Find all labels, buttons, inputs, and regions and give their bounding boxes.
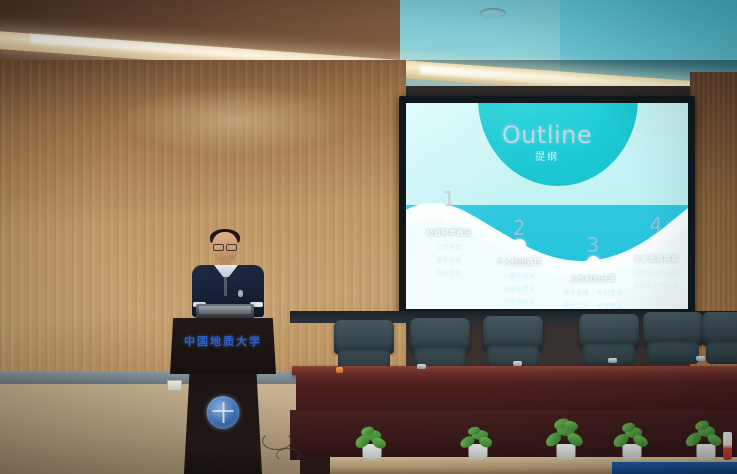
step-subitem: 选择与责任 (482, 284, 556, 293)
microphone-base[interactable] (417, 364, 426, 369)
slide-step-1: 1 经管院学概况 立足经管 服务经管 优质经管 (412, 189, 486, 277)
slide-step-4: 4 未来发展展望 构建学科新格局 培养高水平人才 (624, 215, 688, 290)
potted-plant (457, 414, 499, 460)
step-subitem: 立足经管 (412, 242, 486, 251)
water-bottle (723, 432, 732, 460)
speaker (192, 232, 264, 314)
step-number: 1 (412, 189, 486, 209)
plant-pot (697, 444, 716, 460)
panel-chair[interactable] (643, 312, 703, 372)
step-heading: 个人经历感悟 (482, 257, 556, 267)
step-subitem: 兴趣与成长 (482, 271, 556, 280)
lectern-top-panel: 中国地质大学 (170, 318, 276, 374)
chair-seat (706, 340, 737, 364)
microphone-base[interactable] (608, 358, 617, 363)
slide-step-2: 2 个人经历感悟 兴趣与成长 选择与责任 坚持与担当 (482, 218, 556, 306)
step-heading: 经管院学概况 (412, 228, 486, 238)
panel-chair[interactable] (579, 314, 639, 374)
polo-placket (224, 274, 227, 296)
step-dot (650, 236, 663, 249)
step-dot (513, 239, 526, 252)
shirt-logo (238, 290, 243, 297)
plant-pot (623, 444, 642, 460)
lectern: 中国地质大学 (170, 318, 276, 474)
step-dot (587, 256, 600, 269)
chair-seat (647, 340, 699, 364)
slide-step-3: 3 工作经验分享 教学管理 科研管理 学生工作 日常事务 (554, 235, 632, 309)
university-crest-icon (207, 396, 240, 429)
laptop-screen-back (199, 306, 251, 314)
microphone-base[interactable] (513, 361, 522, 366)
step-subitem: 学生工作 (563, 301, 589, 309)
table-marker-object (336, 367, 343, 373)
panel-table (296, 372, 737, 414)
slide-title-english: Outline (406, 121, 688, 149)
step-subitem: 服务经管 (412, 255, 486, 264)
presentation-slide: Outline 提纲 1 经管院学概况 立足经管 服务经管 优质经管 2 个人经… (406, 103, 688, 309)
step-subitem-row: 学生工作 日常事务 (554, 301, 632, 309)
front-row-seat-backs (612, 462, 737, 474)
step-number: 3 (554, 235, 632, 255)
step-number: 2 (482, 218, 556, 238)
ceiling-vent (480, 8, 506, 18)
step-heading: 未来发展展望 (624, 254, 688, 264)
step-subitem: 日常事务 (597, 301, 623, 309)
lectern-university-name: 中国地质大学 (170, 333, 276, 349)
step-heading: 工作经验分享 (554, 274, 632, 284)
wall-light-reflection (120, 85, 350, 155)
eyeglasses-icon (213, 244, 237, 249)
potted-plant (351, 412, 393, 460)
potted-plant (610, 408, 654, 460)
panel-chair[interactable] (702, 312, 737, 372)
lecture-hall-photo: Outline 提纲 1 经管院学概况 立足经管 服务经管 优质经管 2 个人经… (0, 0, 737, 474)
slide-title-chinese: 提纲 (406, 148, 688, 163)
plant-pot (557, 444, 576, 460)
step-subitem: 教学管理 (563, 288, 589, 297)
step-subitem-row: 教学管理 科研管理 (554, 288, 632, 297)
step-subitem: 培养高水平人才 (624, 281, 688, 290)
step-subitem: 科研管理 (597, 288, 623, 297)
step-number: 4 (624, 215, 688, 235)
floor-cable (276, 448, 300, 462)
step-subitem: 坚持与担当 (482, 297, 556, 306)
microphone-base[interactable] (696, 356, 705, 361)
potted-plant (543, 404, 589, 460)
step-dot (443, 210, 456, 223)
step-subitem: 优质经管 (412, 268, 486, 277)
step-subitem: 构建学科新格局 (624, 268, 688, 277)
projection-screen[interactable]: Outline 提纲 1 经管院学概况 立足经管 服务经管 优质经管 2 个人经… (406, 103, 688, 309)
